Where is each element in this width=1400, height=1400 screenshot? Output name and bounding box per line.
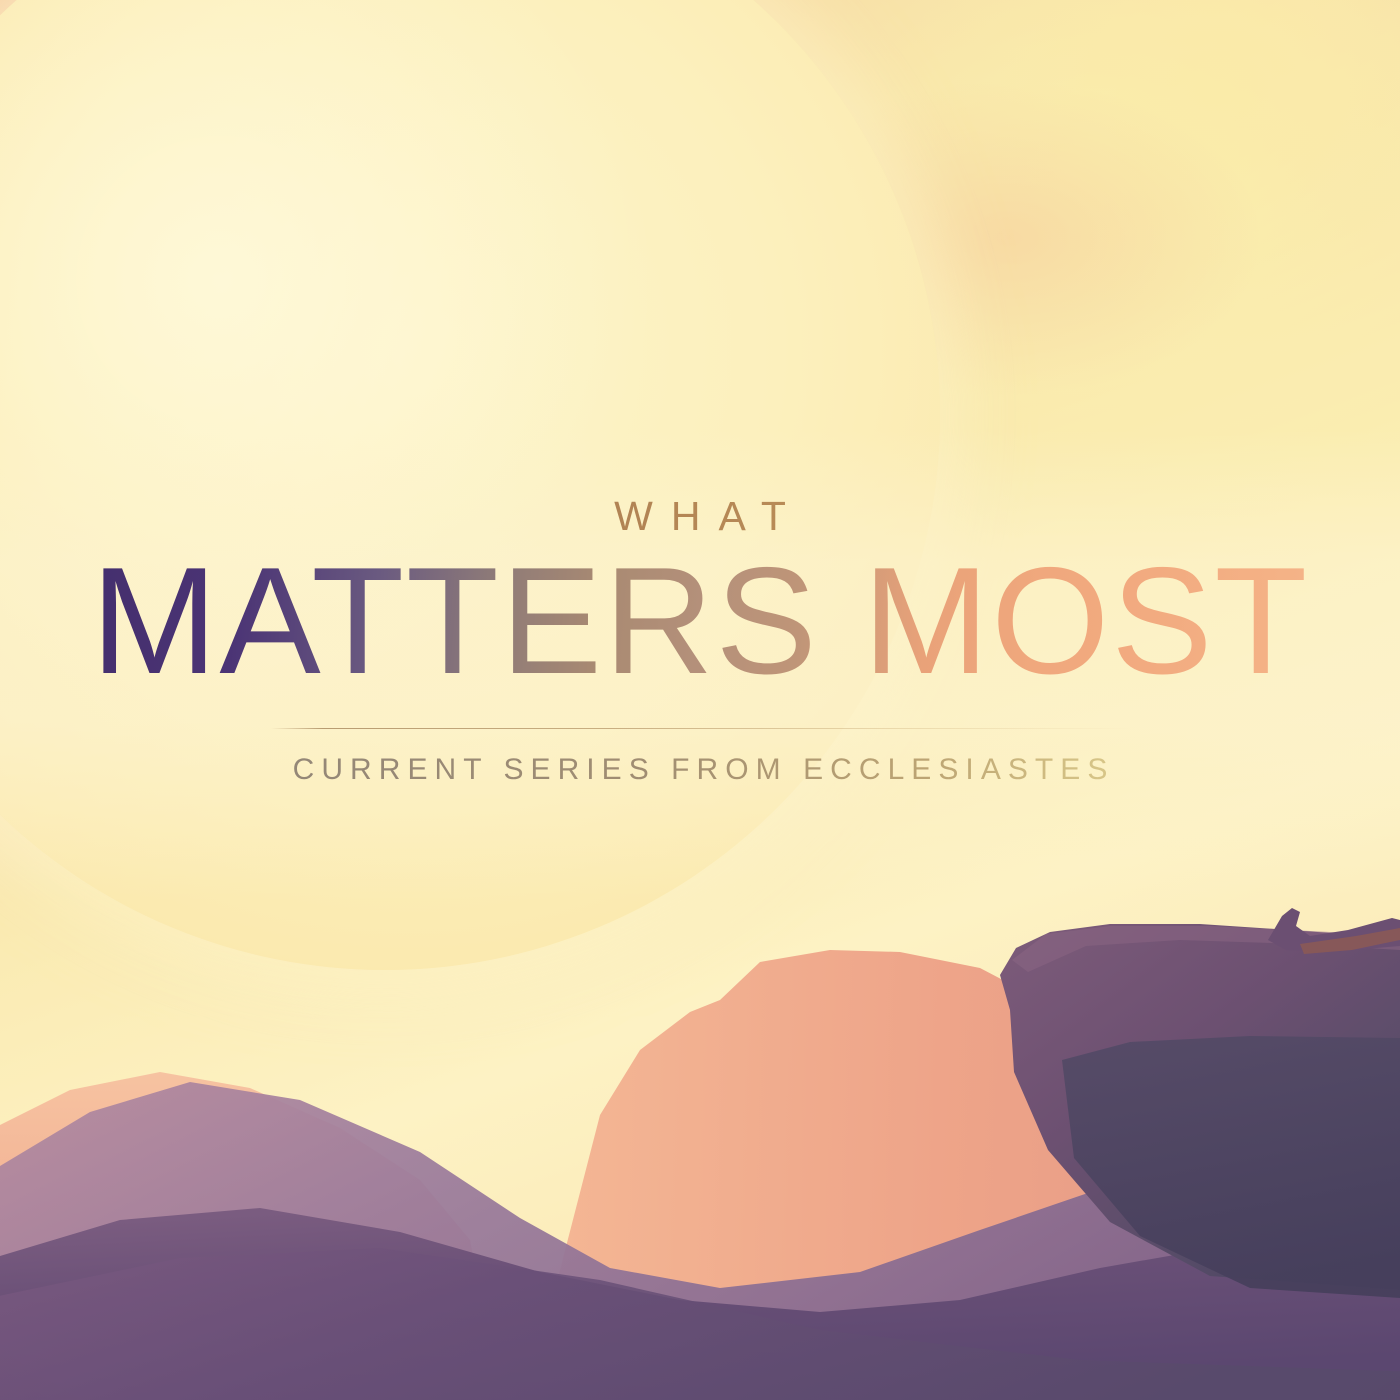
sermon-series-graphic: WHAT MATTERS MOST CURRENT SERIES FROM EC… <box>0 0 1400 1400</box>
foreground-landscape <box>0 0 1400 1400</box>
